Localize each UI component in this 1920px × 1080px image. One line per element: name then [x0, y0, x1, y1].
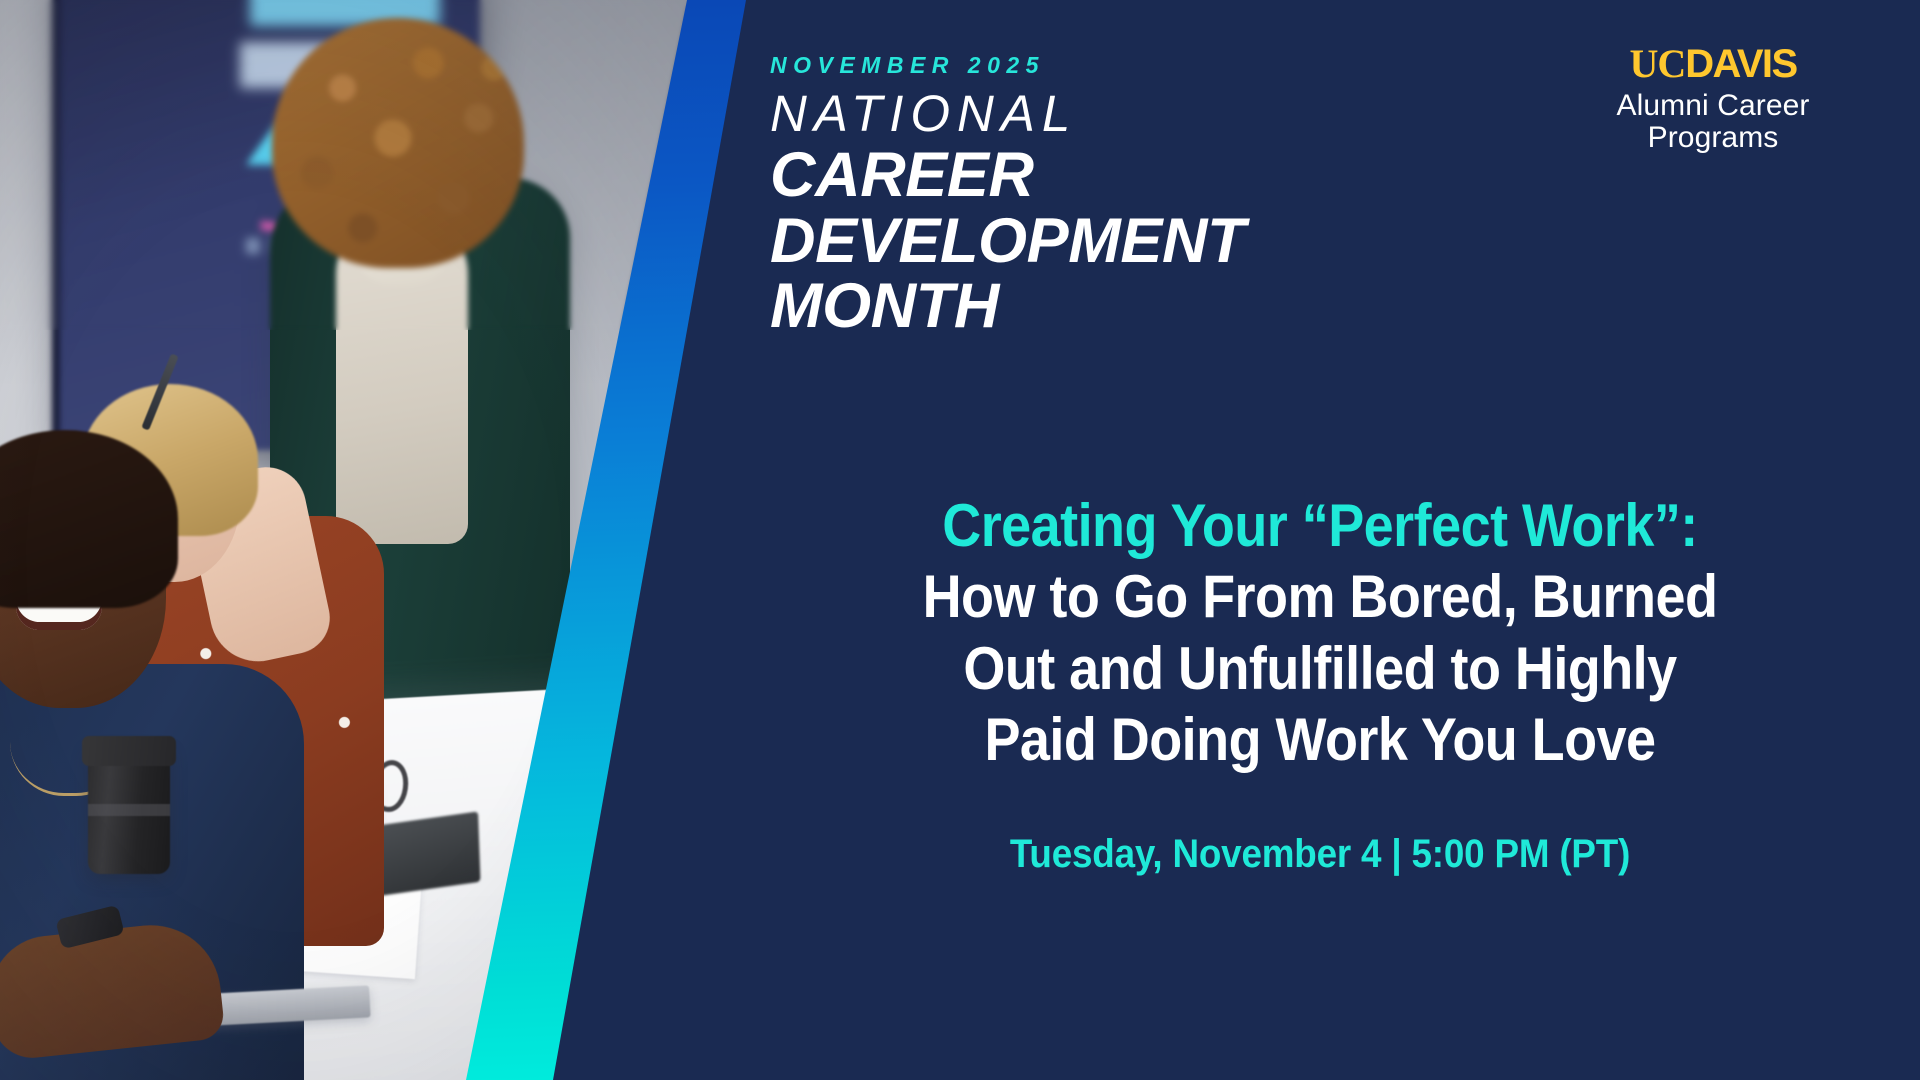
brand-unit-line-2: Programs [1548, 122, 1878, 154]
coffee-cup-lid [82, 736, 176, 766]
career-month-lockup: NOVEMBER 2025 NATIONAL CAREER DEVELOPMEN… [770, 52, 1430, 340]
career-title-line-3: MONTH [770, 274, 1430, 340]
brand-unit-line-1: Alumni Career [1548, 90, 1878, 122]
career-title-line-1: CAREER [770, 143, 1430, 209]
career-title-line-2: DEVELOPMENT [770, 209, 1430, 275]
ucdavis-brand-lockup: UCDAVIS Alumni Career Programs [1548, 44, 1878, 155]
event-headline-line-1: Creating Your “Perfect Work”: [816, 490, 1824, 561]
event-headline-line-2: How to Go From Bored, Burned [816, 561, 1824, 632]
event-headline-line-3: Out and Unfulfilled to Highly [816, 633, 1824, 704]
front-woman-hand [0, 918, 226, 1061]
coffee-cup [88, 746, 170, 874]
coffee-cup-band [88, 804, 170, 816]
event-promo-poster: UCDAVIS Alumni Career Programs NOVEMBER … [0, 0, 1920, 1080]
event-date-time: Tuesday, November 4 | 5:00 PM (PT) [805, 832, 1835, 877]
uc-wordmark-text: UC [1629, 41, 1685, 86]
brand-unit-name: Alumni Career Programs [1548, 90, 1878, 155]
standing-woman-curly-hair [272, 18, 524, 268]
month-eyebrow-date: NOVEMBER 2025 [770, 52, 1430, 79]
ucdavis-wordmark: UCDAVIS [1548, 44, 1878, 84]
davis-wordmark-text: DAVIS [1685, 42, 1796, 86]
event-details-block: Creating Your “Perfect Work”: How to Go … [760, 490, 1880, 877]
national-label: NATIONAL [770, 88, 1430, 139]
event-headline-line-4: Paid Doing Work You Love [816, 704, 1824, 775]
